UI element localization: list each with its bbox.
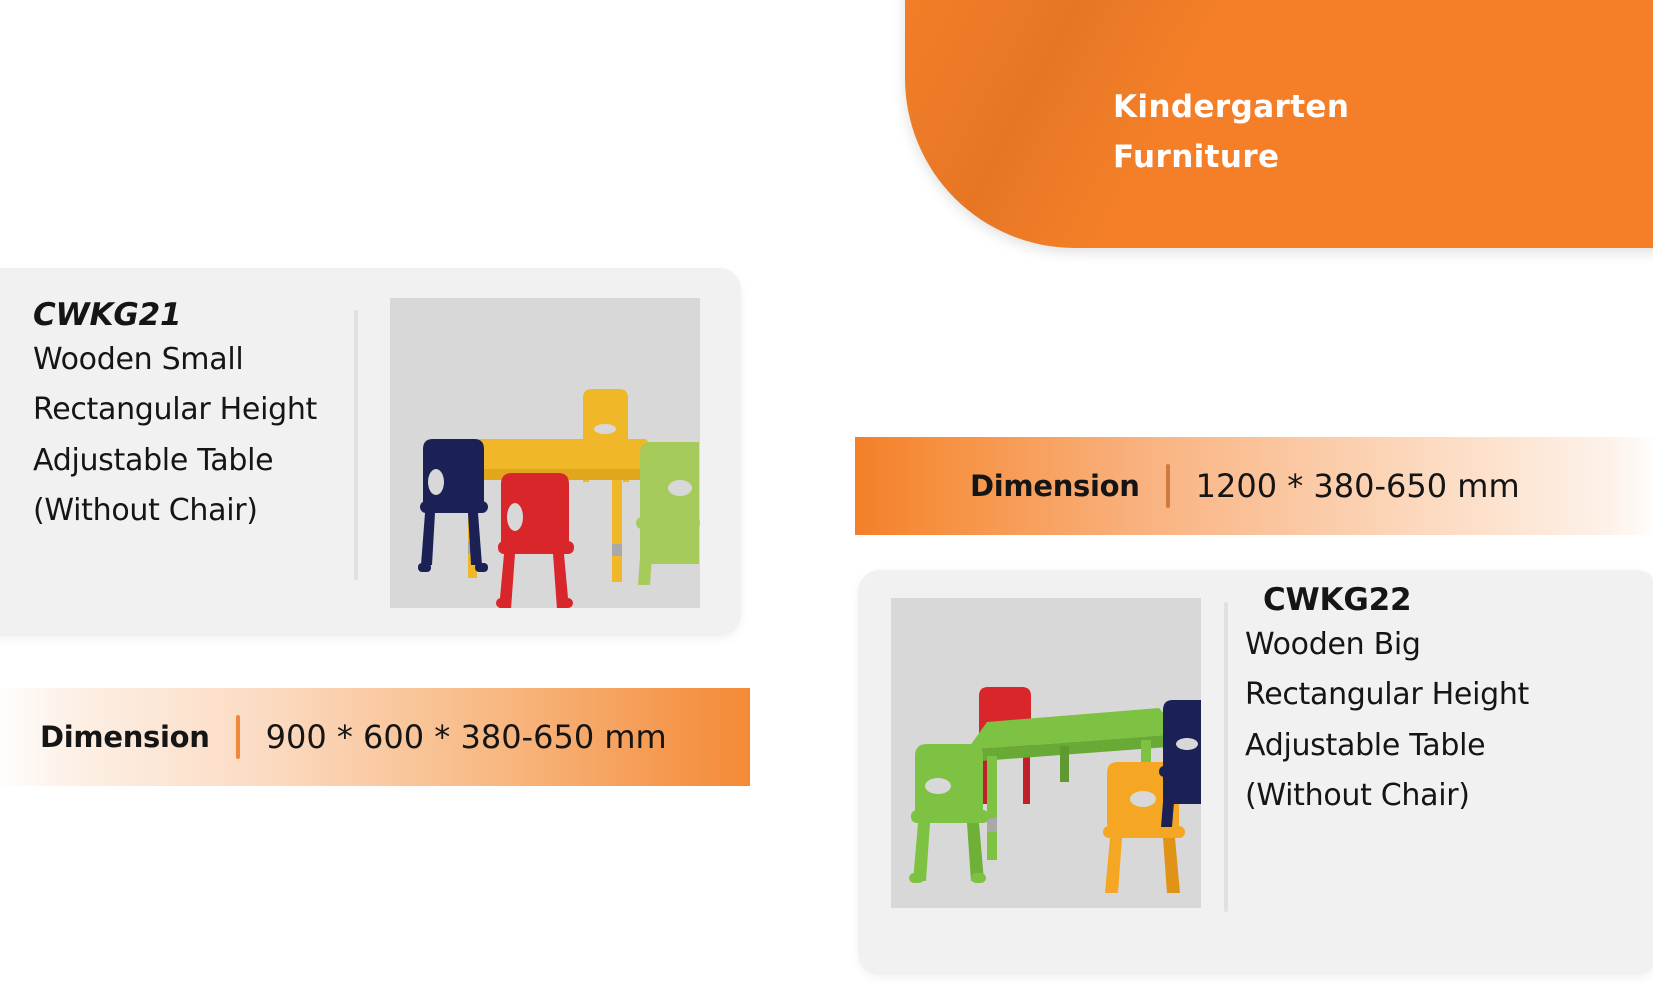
product-info-cwkg21: CWKG21 Wooden Small Rectangular Height A… (33, 297, 323, 536)
product-card-cwkg22[interactable]: CWKG22 Wooden Big Rectangular Height Adj… (858, 570, 1653, 975)
dimension-row: Dimension 900 * 600 * 380-650 mm (40, 688, 667, 786)
page-title-line-2: Furniture (1113, 132, 1533, 182)
chair-green (636, 442, 700, 585)
product-info-cwkg22: CWKG22 Wooden Big Rectangular Height Adj… (1245, 582, 1575, 821)
dimension-label: Dimension (40, 720, 210, 754)
product-photo-cwkg21 (390, 298, 700, 608)
product-photo-cwkg22 (891, 598, 1201, 908)
product-description: Wooden Big Rectangular Height Adjustable… (1245, 620, 1575, 822)
product-sku: CWKG21 (33, 297, 323, 335)
product-description: Wooden Small Rectangular Height Adjustab… (33, 335, 323, 537)
page-title: Kindergarten Furniture (1113, 82, 1533, 182)
dimension-bar-cwkg21: Dimension 900 * 600 * 380-650 mm (0, 688, 750, 786)
product-sku: CWKG22 (1245, 582, 1575, 620)
dimension-separator (1166, 464, 1170, 508)
dimension-separator (236, 715, 240, 759)
card-divider (354, 310, 358, 580)
page-title-line-1: Kindergarten (1113, 82, 1533, 132)
dimension-bar-cwkg22: Dimension 1200 * 380-650 mm (855, 437, 1653, 535)
product-card-cwkg21[interactable]: CWKG21 Wooden Small Rectangular Height A… (0, 268, 741, 636)
dimension-label: Dimension (970, 469, 1140, 503)
dimension-row: Dimension 1200 * 380-650 mm (970, 437, 1520, 535)
dimension-value: 900 * 600 * 380-650 mm (266, 718, 667, 756)
card-divider (1224, 602, 1228, 912)
dimension-value: 1200 * 380-650 mm (1196, 467, 1520, 505)
